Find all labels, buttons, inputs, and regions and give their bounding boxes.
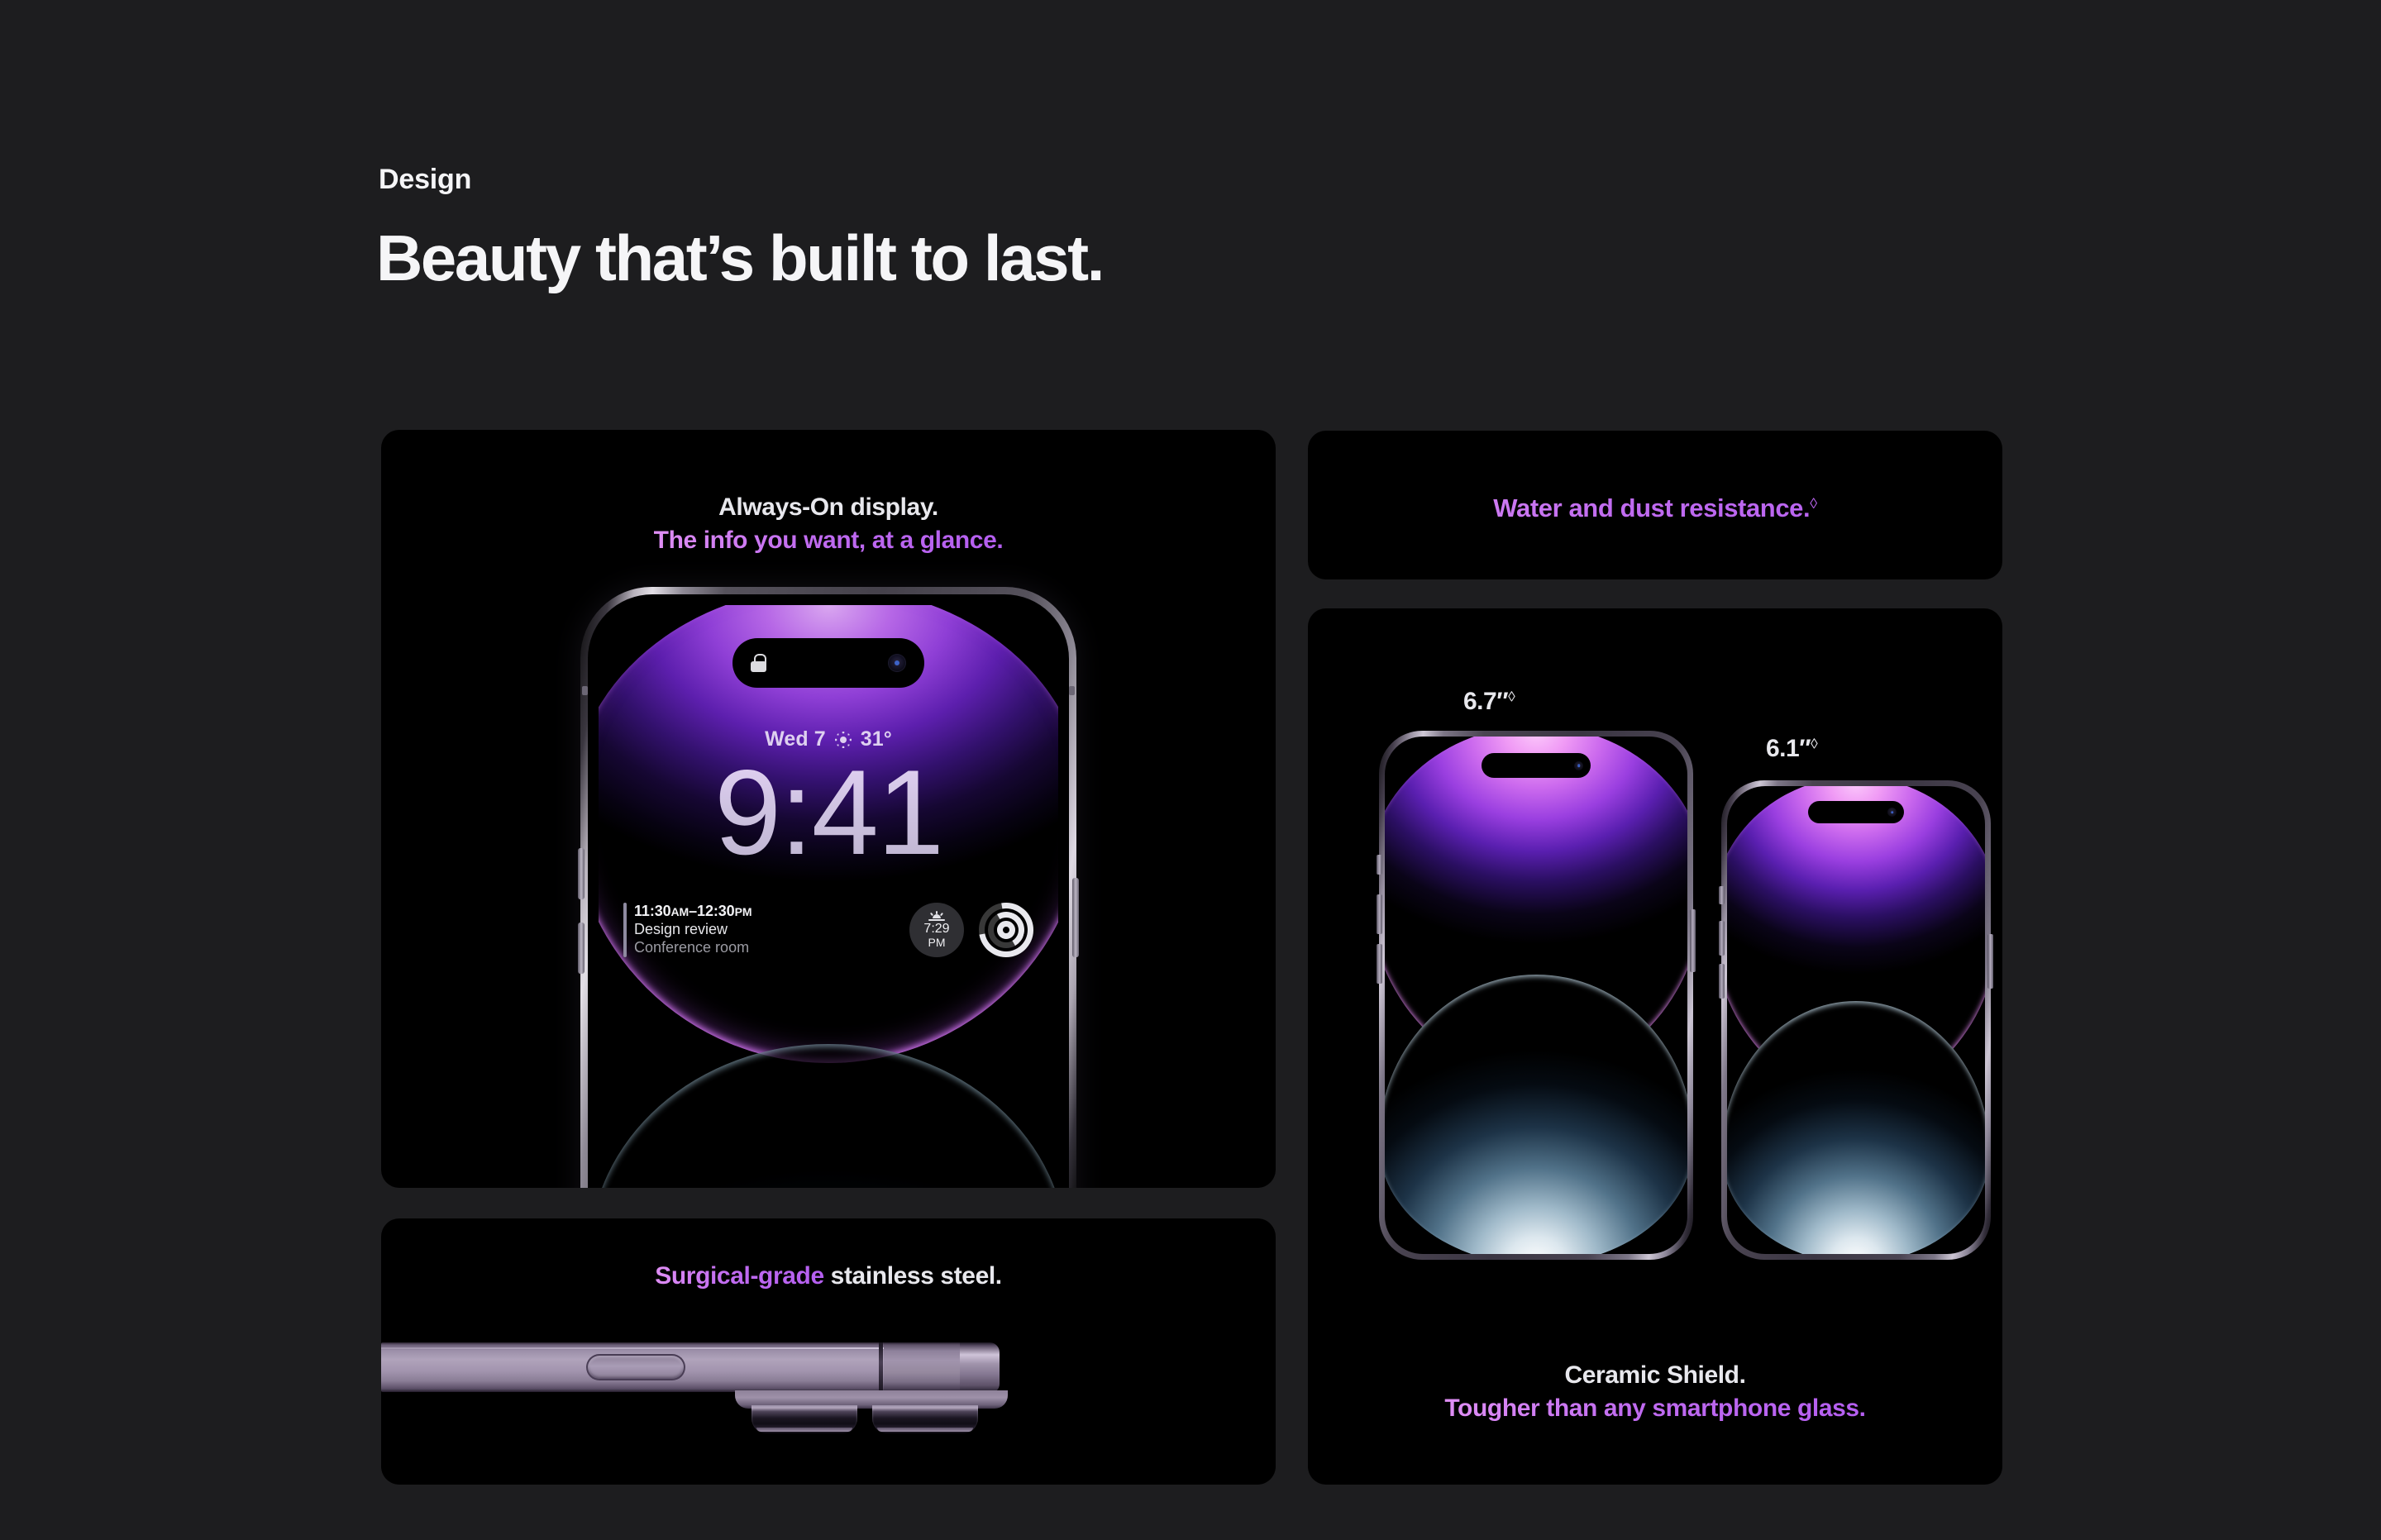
- sizes-caption-line1: Ceramic Shield.: [1564, 1361, 1745, 1389]
- footnote-marker-large: ◊: [1508, 688, 1515, 704]
- steel-caption-highlight: Surgical-grade: [655, 1262, 823, 1290]
- phone-screen-67: [1385, 737, 1687, 1254]
- steel-caption-rest: stainless steel.: [824, 1262, 1002, 1290]
- sunset-icon: [928, 911, 945, 921]
- steel-caption: Surgical-grade stainless steel.: [381, 1260, 1276, 1293]
- dynamic-island-61: [1808, 801, 1904, 823]
- phone-screen: Wed 7 31° 9:41 11:30AM–12:30PM Design re…: [599, 605, 1058, 1188]
- rail-corner: [884, 1342, 966, 1392]
- lock-icon: [751, 654, 766, 672]
- front-camera-icon: [888, 654, 906, 672]
- card-display-sizes[interactable]: 6.7″◊ 6.1″◊ Ceramic Shie: [1308, 608, 2002, 1485]
- calendar-widget[interactable]: 11:30AM–12:30PM Design review Conference…: [623, 903, 895, 957]
- water-caption: Water and dust resistance.◊: [1308, 492, 2002, 526]
- size-label-large: 6.7″◊: [1463, 688, 1515, 716]
- antenna-band-right: [1069, 686, 1075, 695]
- volume-down-button: [578, 923, 585, 974]
- volume-button: [586, 1354, 685, 1380]
- lockscreen-widgets: 11:30AM–12:30PM Design review Conference…: [623, 903, 1033, 957]
- sizes-caption: Ceramic Shield. Tougher than any smartph…: [1308, 1359, 2002, 1424]
- rail-end-cap: [960, 1342, 1000, 1394]
- card-stainless-steel[interactable]: Surgical-grade stainless steel.: [381, 1218, 1276, 1485]
- footnote-marker-small: ◊: [1811, 735, 1817, 751]
- camera-lens-1: [752, 1405, 857, 1433]
- always-on-caption-line1: Always-On display.: [718, 493, 938, 521]
- dynamic-island-67: [1482, 753, 1591, 778]
- iphone-side-profile: [381, 1342, 1276, 1458]
- iphone-lockscreen-mockup: Wed 7 31° 9:41 11:30AM–12:30PM Design re…: [580, 587, 1076, 1188]
- always-on-caption-line2: The info you want, at a glance.: [654, 527, 1004, 554]
- front-camera-icon-61: [1887, 808, 1897, 817]
- mute-switch: [1377, 855, 1382, 875]
- volume-up-button-67: [1377, 894, 1382, 934]
- size-label-small: 6.1″◊: [1766, 735, 1817, 763]
- antenna-band-left: [582, 686, 588, 695]
- power-button-61: [1987, 934, 1993, 989]
- camera-lens-2: [872, 1405, 978, 1433]
- wallpaper-dome-reflection: [599, 1044, 1058, 1188]
- sunset-widget[interactable]: 7:29 PM: [909, 903, 964, 957]
- mute-switch-61: [1719, 886, 1725, 904]
- rail-highlight: [381, 1347, 894, 1349]
- sizes-caption-line2: Tougher than any smartphone glass.: [1444, 1395, 1865, 1422]
- iphone-67-mockup: [1379, 731, 1693, 1260]
- volume-up-button: [578, 848, 585, 899]
- dynamic-island: [732, 638, 924, 688]
- calendar-event-title: Design review: [634, 921, 752, 939]
- power-button-67: [1690, 909, 1696, 972]
- volume-down-button-67: [1377, 944, 1382, 984]
- section-eyebrow: Design: [379, 164, 471, 196]
- sunset-period: PM: [928, 936, 946, 949]
- calendar-accent-bar: [623, 903, 627, 957]
- iphone-61-mockup: [1721, 780, 1991, 1260]
- antenna-seam: [879, 1342, 883, 1392]
- card-always-on-display[interactable]: Always-On display. The info you want, at…: [381, 430, 1276, 1188]
- sunset-time: 7:29: [923, 923, 949, 937]
- page-title: Beauty that’s built to last.: [376, 225, 1103, 293]
- design-section: Design Beauty that’s built to last. Alwa…: [0, 0, 2381, 1540]
- footnote-marker: ◊: [1810, 495, 1816, 512]
- volume-up-button-61: [1719, 921, 1725, 956]
- calendar-event-location: Conference room: [634, 939, 752, 957]
- always-on-caption: Always-On display. The info you want, at…: [381, 491, 1276, 556]
- power-button: [1072, 878, 1079, 957]
- card-water-dust-resistance[interactable]: Water and dust resistance.◊: [1308, 431, 2002, 579]
- phone-screen-61: [1727, 786, 1985, 1254]
- front-camera-icon-67: [1574, 761, 1583, 770]
- volume-down-button-61: [1719, 964, 1725, 999]
- lockscreen-clock: 9:41: [599, 752, 1058, 873]
- activity-rings-icon[interactable]: [979, 903, 1033, 957]
- calendar-event-time: 11:30AM–12:30PM: [634, 903, 752, 921]
